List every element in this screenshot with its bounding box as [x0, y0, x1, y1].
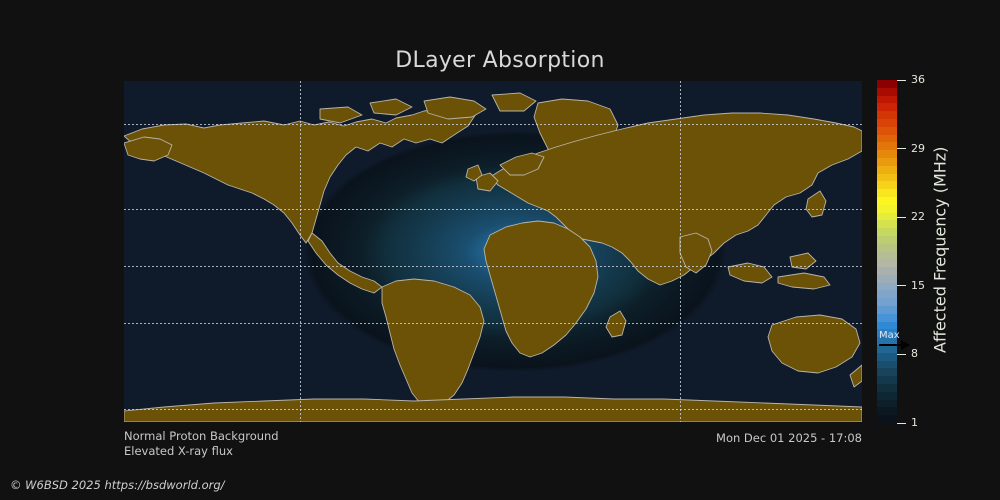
colorbar-segment	[877, 415, 897, 423]
colorbar[interactable]	[877, 80, 897, 423]
status-line-2: Elevated X-ray flux	[124, 444, 279, 459]
colorbar-tick-15: 15	[897, 279, 925, 292]
copyright-footer: © W6BSD 2025 https://bsdworld.org/	[10, 478, 225, 492]
colorbar-max-marker: Max	[877, 330, 917, 354]
status-line-1: Normal Proton Background	[124, 429, 279, 444]
colorbar-tick-29: 29	[897, 142, 925, 155]
timestamp: Mon Dec 01 2025 - 17:08	[716, 431, 862, 445]
max-arrow-icon	[879, 344, 909, 346]
coastline-layer	[124, 81, 862, 422]
colorbar-tick-36: 36	[897, 73, 925, 86]
colorbar-tick-1: 1	[897, 416, 918, 429]
colorbar-axis-label: Affected Frequency (MHz)	[928, 60, 952, 440]
colorbar-tick-22: 22	[897, 210, 925, 223]
world-map[interactable]	[124, 81, 862, 422]
max-marker-label: Max	[879, 330, 900, 341]
status-text: Normal Proton Background Elevated X-ray …	[124, 429, 279, 459]
page-title: DLayer Absorption	[0, 48, 1000, 73]
